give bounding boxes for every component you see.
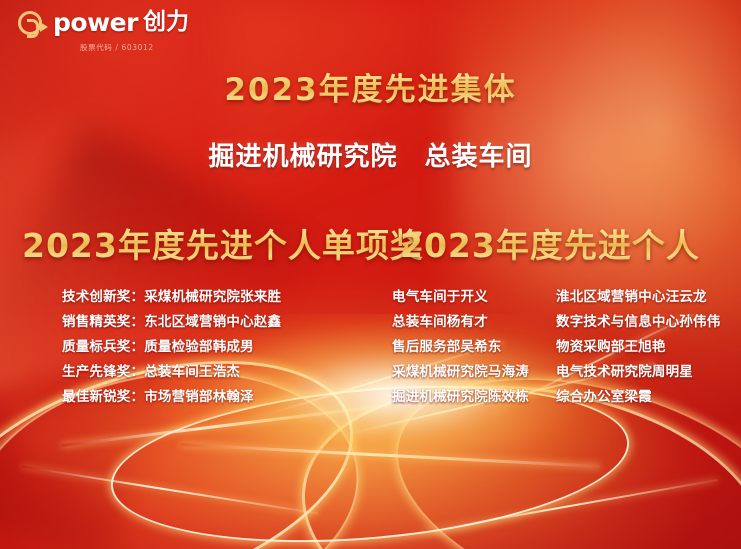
list-item: 销售精英奖：东北区域营销中心赵鑫 [62, 310, 281, 330]
award-poster: power 创力 股票代码 / 603012 2023年度先进集体 掘进机械研究… [0, 0, 741, 549]
list-item-name: 综合办公室梁霞 [556, 385, 652, 405]
list-item: 技术创新奖：采煤机械研究院张来胜 [62, 285, 281, 305]
collective-winners: 掘进机械研究院 总装车间 [0, 136, 741, 173]
list-item-name: 电气技术研究院周明星 [556, 360, 693, 380]
list-item-name: 售后服务部吴希东 [392, 335, 540, 355]
list-item-name: 采煤机械研究院马海涛 [392, 360, 540, 380]
list-item: 最佳新锐奖：市场营销部林翰泽 [62, 385, 281, 405]
section-heading-advanced-individuals: 2023年度先进个人 [400, 219, 700, 267]
section-heading-individual-awards: 2023年度先进个人单项奖 [22, 219, 424, 267]
list-item: 生产先锋奖：总装车间王浩杰 [62, 360, 281, 380]
list-item: 质量标兵奖：质量检验部韩成男 [62, 335, 281, 355]
power-circle-logo-icon [18, 11, 42, 35]
list-item-name: 物资采购部王旭艳 [556, 335, 666, 355]
list-item-name: 总装车间杨有才 [392, 310, 540, 330]
logo-stock-code: 股票代码 / 603012 [80, 42, 154, 53]
list-item: 采煤机械研究院马海涛 电气技术研究院周明星 [392, 360, 720, 380]
list-item-name: 淮北区域营销中心汪云龙 [556, 285, 707, 305]
silk-fold-decoration [0, 65, 295, 475]
advanced-individuals-list: 电气车间于开义 淮北区域营销中心汪云龙 总装车间杨有才 数字技术与信息中心孙伟伟… [392, 285, 720, 405]
company-logo: power 创力 股票代码 / 603012 [18, 10, 189, 53]
individual-awards-list: 技术创新奖：采煤机械研究院张来胜 销售精英奖：东北区域营销中心赵鑫 质量标兵奖：… [62, 285, 281, 405]
list-item: 电气车间于开义 淮北区域营销中心汪云龙 [392, 285, 720, 305]
logo-row: power 创力 [18, 10, 189, 35]
list-item: 售后服务部吴希东 物资采购部王旭艳 [392, 335, 720, 355]
ribbon-streak [422, 479, 718, 533]
ribbon-streak [61, 404, 389, 447]
glow-decoration [230, 0, 470, 240]
logo-wordmark-cn: 创力 [143, 11, 189, 34]
ribbon-streak [22, 466, 319, 515]
list-item-name: 数字技术与信息中心孙伟伟 [556, 310, 720, 330]
logo-wordmark: power [53, 10, 138, 35]
list-item-name: 电气车间于开义 [392, 285, 540, 305]
list-item: 掘进机械研究院陈效栋 综合办公室梁霞 [392, 385, 720, 405]
ribbon-streak [180, 443, 600, 468]
list-item-name: 掘进机械研究院陈效栋 [392, 385, 540, 405]
page-title: 2023年度先进集体 [0, 64, 741, 109]
list-item: 总装车间杨有才 数字技术与信息中心孙伟伟 [392, 310, 720, 330]
